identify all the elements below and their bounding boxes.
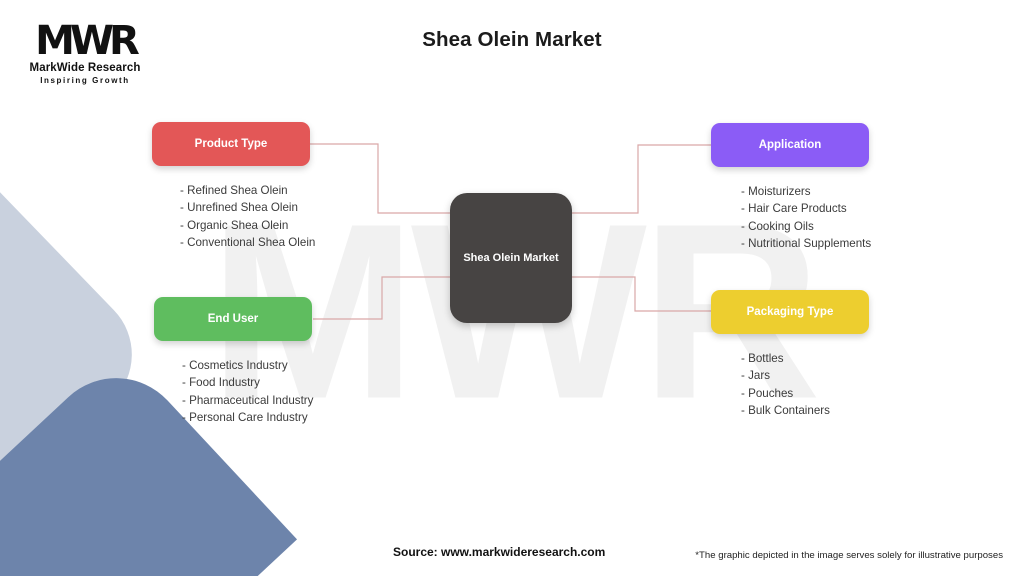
branch-product-type-label: Product Type <box>195 138 268 150</box>
list-item: - Pharmaceutical Industry <box>182 392 313 409</box>
branch-end-user-label: End User <box>208 313 259 325</box>
connector-packaging-type <box>560 277 711 311</box>
list-item: - Conventional Shea Olein <box>180 234 315 251</box>
branch-product-type-list: - Refined Shea Olein - Unrefined Shea Ol… <box>180 182 315 252</box>
branch-end-user: End User - Cosmetics Industry - Food Ind… <box>154 297 313 427</box>
branch-end-user-list: - Cosmetics Industry - Food Industry - P… <box>182 357 313 427</box>
branch-packaging-type-list: - Bottles - Jars - Pouches - Bulk Contai… <box>741 350 869 420</box>
list-item: - Cooking Oils <box>741 218 871 235</box>
list-item: - Pouches <box>741 385 869 402</box>
branch-application-label: Application <box>759 139 822 151</box>
list-item: - Food Industry <box>182 374 313 391</box>
branch-application-list: - Moisturizers - Hair Care Products - Co… <box>741 183 871 253</box>
list-item: - Personal Care Industry <box>182 409 313 426</box>
connector-application <box>571 145 711 213</box>
list-item: - Cosmetics Industry <box>182 357 313 374</box>
footer-disclaimer: *The graphic depicted in the image serve… <box>695 550 1003 561</box>
list-item: - Organic Shea Olein <box>180 217 315 234</box>
list-item: - Unrefined Shea Olein <box>180 199 315 216</box>
branch-packaging-type-header[interactable]: Packaging Type <box>711 290 869 334</box>
branch-product-type: Product Type - Refined Shea Olein - Unre… <box>152 122 315 252</box>
branch-application: Application - Moisturizers - Hair Care P… <box>711 123 871 253</box>
list-item: - Hair Care Products <box>741 200 871 217</box>
list-item: - Jars <box>741 367 869 384</box>
branch-application-header[interactable]: Application <box>711 123 869 167</box>
branch-product-type-header[interactable]: Product Type <box>152 122 310 166</box>
connector-product-type <box>310 144 452 213</box>
list-item: - Moisturizers <box>741 183 871 200</box>
center-node-label: Shea Olein Market <box>463 252 558 264</box>
connector-end-user <box>313 277 452 319</box>
list-item: - Bottles <box>741 350 869 367</box>
list-item: - Bulk Containers <box>741 402 869 419</box>
branch-packaging-type-label: Packaging Type <box>747 306 834 318</box>
center-node[interactable]: Shea Olein Market <box>450 193 572 323</box>
footer-source[interactable]: Source: www.markwideresearch.com <box>393 545 605 559</box>
list-item: - Nutritional Supplements <box>741 235 871 252</box>
branch-end-user-header[interactable]: End User <box>154 297 312 341</box>
list-item: - Refined Shea Olein <box>180 182 315 199</box>
branch-packaging-type: Packaging Type - Bottles - Jars - Pouche… <box>711 290 869 420</box>
